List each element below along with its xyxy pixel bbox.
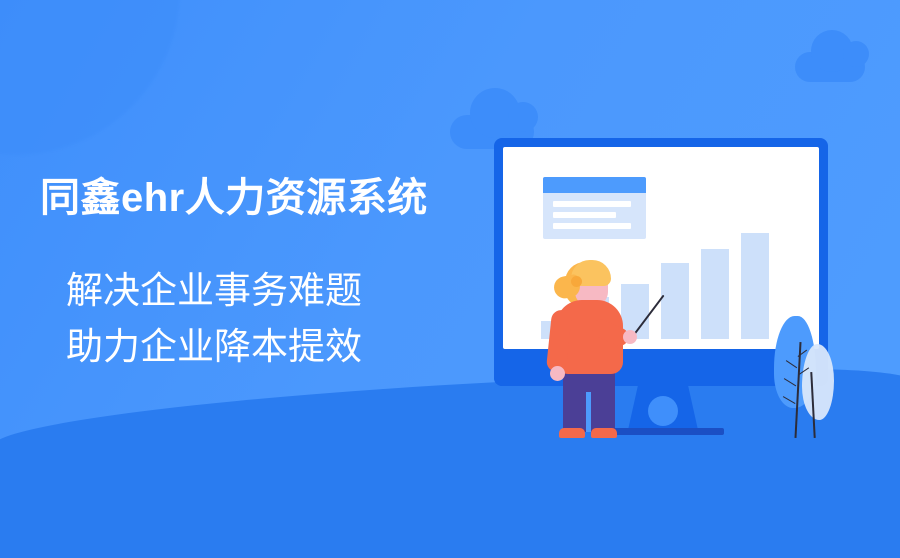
leg-gap: [586, 392, 591, 432]
hand-left: [550, 366, 565, 381]
subtitle-line-1: 解决企业事务难题: [66, 272, 362, 309]
ponytail-tie: [571, 276, 582, 287]
hand-right: [623, 330, 637, 344]
subtitle-line-2: 助力企业降本提效: [66, 328, 362, 365]
bar-4: [661, 263, 689, 339]
card-text-line: [553, 212, 616, 218]
card-header-bar: [543, 177, 646, 193]
dashboard-card: [543, 177, 646, 239]
shoe-left: [559, 428, 585, 438]
bottom-wave-fill: [0, 452, 900, 558]
card-text-line: [553, 223, 631, 229]
bar-6: [741, 233, 769, 339]
page-title: 同鑫ehr人力资源系统: [40, 178, 428, 218]
plant-leaf-blob-secondary: [802, 344, 834, 420]
decorative-plant: [772, 316, 842, 438]
card-text-line: [553, 201, 631, 207]
presenter-figure: [545, 258, 635, 440]
shoe-right: [591, 428, 617, 438]
monitor-stand-knob: [648, 396, 678, 426]
banner-root: 同鑫ehr人力资源系统 解决企业事务难题 助力企业降本提效: [0, 0, 900, 558]
cloud-icon-right: [795, 52, 865, 82]
bar-5: [701, 249, 729, 339]
